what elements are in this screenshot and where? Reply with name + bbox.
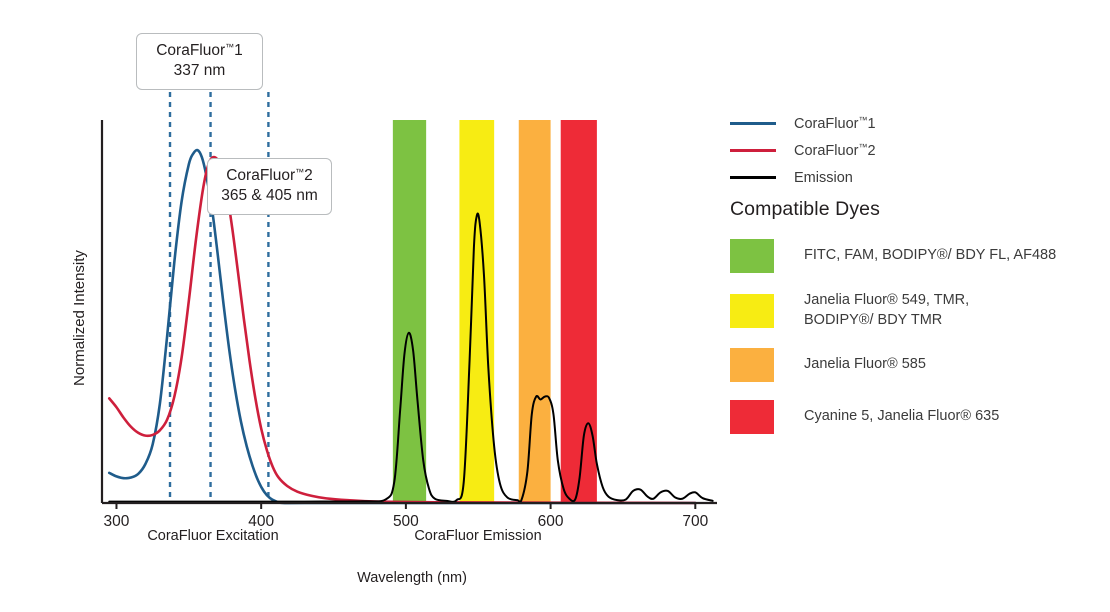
- excitation-marker-lines: [170, 92, 268, 503]
- cf1-annotation-box: CoraFluor™1 337 nm: [136, 33, 263, 90]
- yellow-band: [459, 120, 494, 503]
- legend-line-swatch: [730, 149, 776, 152]
- dye-color-swatch: [730, 400, 774, 434]
- legend-item-label: CoraFluor™1: [794, 115, 876, 132]
- compatible-dyes-title: Compatible Dyes: [730, 198, 1090, 221]
- series-legend: CoraFluor™1CoraFluor™2Emission: [730, 110, 1080, 191]
- legend-item-1[interactable]: CoraFluor™2: [730, 137, 1080, 164]
- cf2-annotation-box: CoraFluor™2 365 & 405 nm: [207, 158, 332, 215]
- dye-item-label: Janelia Fluor® 549, TMR,BODIPY®/ BDY TMR: [804, 291, 969, 330]
- dye-item-label: Janelia Fluor® 585: [804, 355, 926, 375]
- legend-item-2[interactable]: Emission: [730, 164, 1080, 191]
- legend-line-swatch: [730, 122, 776, 125]
- dye-item-label: Cyanine 5, Janelia Fluor® 635: [804, 407, 999, 427]
- cf2-annotation-name: CoraFluor™2: [220, 166, 319, 186]
- compatible-dyes-panel: Compatible Dyes FITC, FAM, BODIPY®/ BDY …: [730, 198, 1090, 452]
- dye-color-swatch: [730, 239, 774, 273]
- emission-section-label: CoraFluor Emission: [414, 528, 541, 544]
- cf1-annotation-value: 337 nm: [149, 61, 250, 81]
- legend-line-swatch: [730, 176, 776, 179]
- dye-item-label: FITC, FAM, BODIPY®/ BDY FL, AF488: [804, 246, 1056, 266]
- excitation-section-label: CoraFluor Excitation: [147, 528, 278, 544]
- red-band: [561, 120, 597, 503]
- dye-item-1[interactable]: Janelia Fluor® 549, TMR,BODIPY®/ BDY TMR: [730, 291, 1090, 330]
- dye-color-swatch: [730, 348, 774, 382]
- x-axis-label: Wavelength (nm): [357, 570, 467, 586]
- dye-item-3[interactable]: Cyanine 5, Janelia Fluor® 635: [730, 400, 1090, 434]
- cf2-annotation-value: 365 & 405 nm: [220, 186, 319, 206]
- dye-item-2[interactable]: Janelia Fluor® 585: [730, 348, 1090, 382]
- dye-color-swatch: [730, 294, 774, 328]
- x-tick-label-300: 300: [104, 513, 130, 530]
- legend-item-0[interactable]: CoraFluor™1: [730, 110, 1080, 137]
- legend-item-label: Emission: [794, 169, 853, 186]
- dye-item-0[interactable]: FITC, FAM, BODIPY®/ BDY FL, AF488: [730, 239, 1090, 273]
- orange-band: [519, 120, 551, 503]
- y-axis-label: Normalized Intensity: [71, 250, 88, 386]
- compatible-dyes-list: FITC, FAM, BODIPY®/ BDY FL, AF488Janelia…: [730, 239, 1090, 434]
- legend-item-label: CoraFluor™2: [794, 142, 876, 159]
- x-axis-ticks: 300400500600700: [104, 503, 709, 530]
- x-tick-label-700: 700: [682, 513, 708, 530]
- fluorescence-spectra-figure: 300400500600700 Normalized Intensity Cor…: [0, 0, 1110, 612]
- cf1-annotation-name: CoraFluor™1: [149, 41, 250, 61]
